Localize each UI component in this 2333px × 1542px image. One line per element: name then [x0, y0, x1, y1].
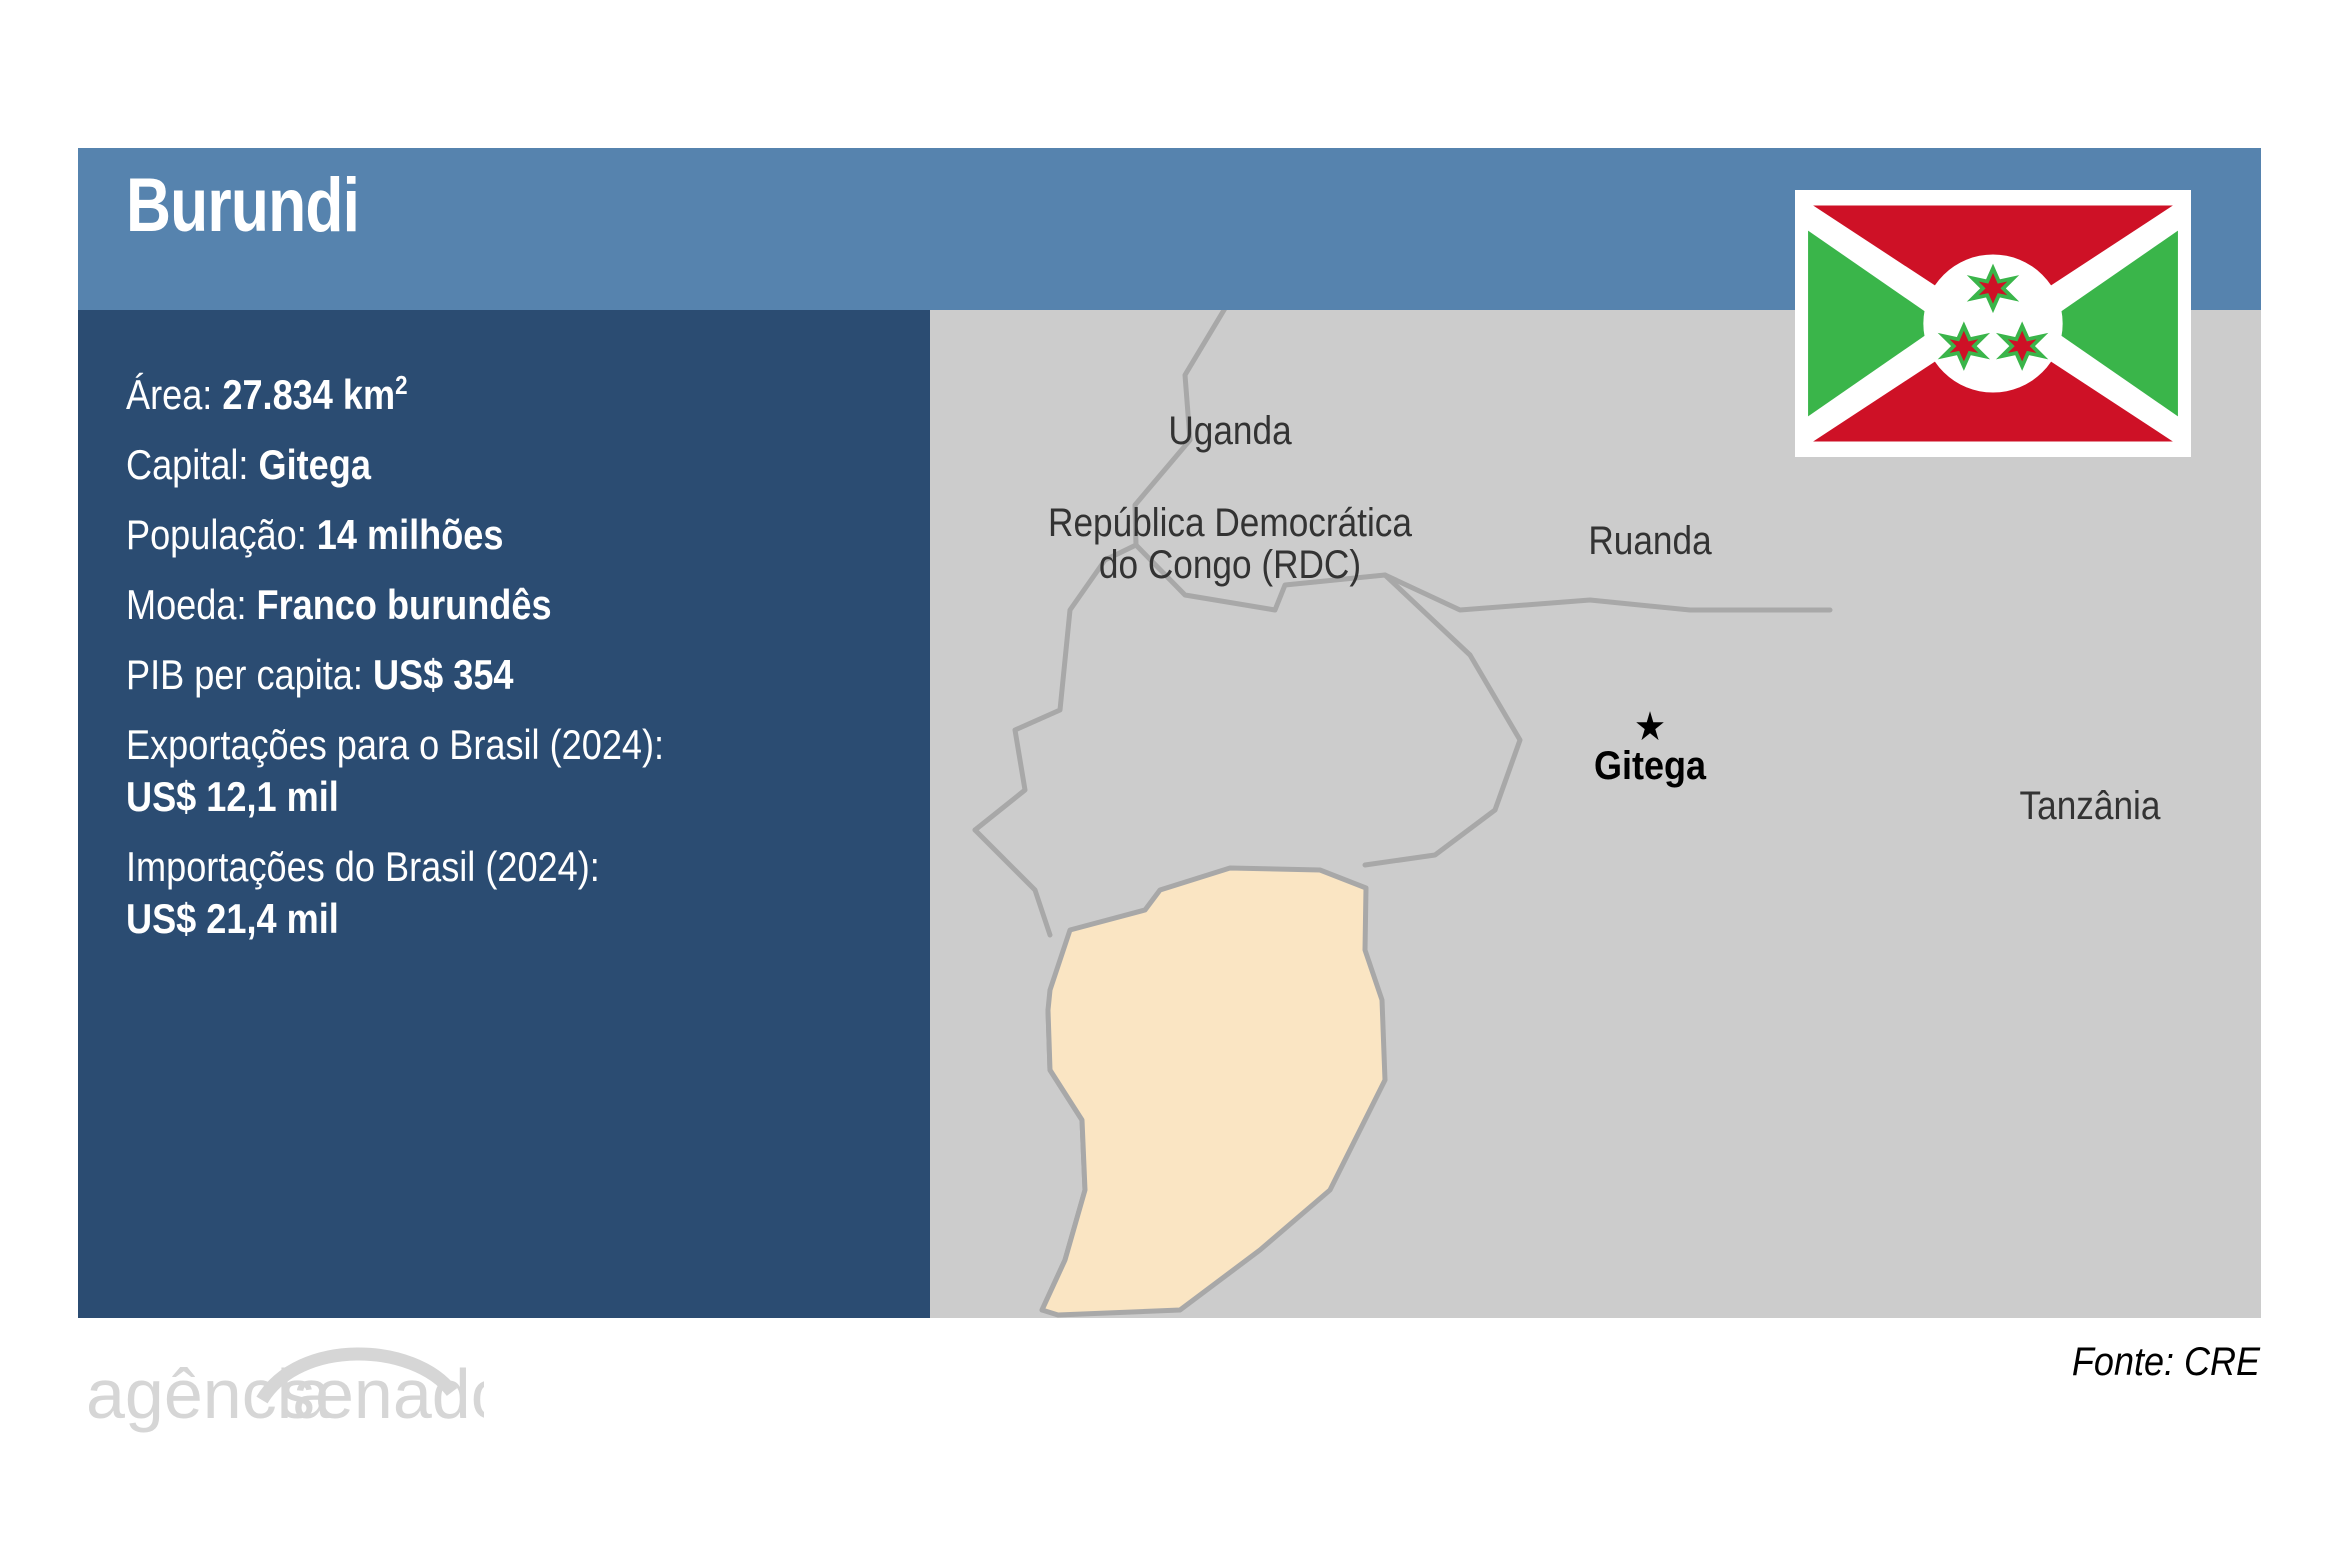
logo-text-senado: senado — [280, 1355, 484, 1433]
fact-exports-value: US$ 12,1 mil — [126, 776, 795, 818]
fact-population-value: 14 milhões — [317, 511, 504, 558]
fact-gdp-label: PIB per capita: — [126, 651, 373, 698]
regional-map: República Democrática do Congo (RDC) Uga… — [930, 310, 2261, 1318]
fact-area-exponent: 2 — [395, 370, 407, 400]
map-label-drc: República Democrática do Congo (RDC) — [1001, 502, 1459, 587]
map-label-rwanda: Ruanda — [1509, 520, 1791, 562]
map-label-drc-line2: do Congo (RDC) — [1099, 543, 1361, 587]
fact-capital-value: Gitega — [259, 441, 371, 488]
country-info-panel: Área: 27.834 km2 Capital: Gitega Populaç… — [78, 310, 930, 1318]
fact-area: Área: 27.834 km2 — [126, 372, 795, 416]
fact-capital: Capital: Gitega — [126, 444, 795, 486]
fact-capital-label: Capital: — [126, 441, 259, 488]
fact-exports-label: Exportações para o Brasil (2024): — [126, 724, 795, 766]
fact-gdp-value: US$ 354 — [373, 651, 514, 698]
burundi-flag — [1795, 190, 2191, 457]
fact-area-value: 27.834 km — [222, 371, 395, 418]
fact-exports-value-text: US$ 12,1 mil — [126, 773, 339, 820]
map-label-uganda: Uganda — [1089, 410, 1371, 452]
fact-population-label: População: — [126, 511, 317, 558]
map-label-capital: ★ Gitega — [1515, 710, 1785, 789]
fact-imports-value: US$ 21,4 mil — [126, 898, 795, 940]
fact-population: População: 14 milhões — [126, 514, 795, 556]
fact-area-label: Área: — [126, 371, 222, 418]
burundi-territory — [1042, 868, 1385, 1315]
fact-imports-value-text: US$ 21,4 mil — [126, 895, 339, 942]
source-note: Fonte: CRE — [1918, 1340, 2260, 1385]
agencia-senado-logo: agência senado — [84, 1330, 484, 1440]
page-title: Burundi — [126, 162, 359, 249]
fact-currency-value: Franco burundês — [257, 581, 552, 628]
capital-name: Gitega — [1594, 744, 1706, 788]
fact-gdp-per-capita: PIB per capita: US$ 354 — [126, 654, 795, 696]
flag-graphic — [1803, 198, 2183, 449]
map-label-drc-line1: República Democrática — [1048, 501, 1412, 545]
agencia-senado-logo-graphic: agência senado — [84, 1330, 484, 1440]
infographic-container: Burundi Área: 27.834 km2 Capital: Gitega… — [78, 148, 2261, 1318]
fact-currency-label: Moeda: — [126, 581, 257, 628]
map-label-tanzania: Tanzânia — [1949, 785, 2231, 827]
capital-star-icon: ★ — [1515, 710, 1785, 744]
fact-imports-label: Importações do Brasil (2024): — [126, 846, 795, 888]
fact-currency: Moeda: Franco burundês — [126, 584, 795, 626]
